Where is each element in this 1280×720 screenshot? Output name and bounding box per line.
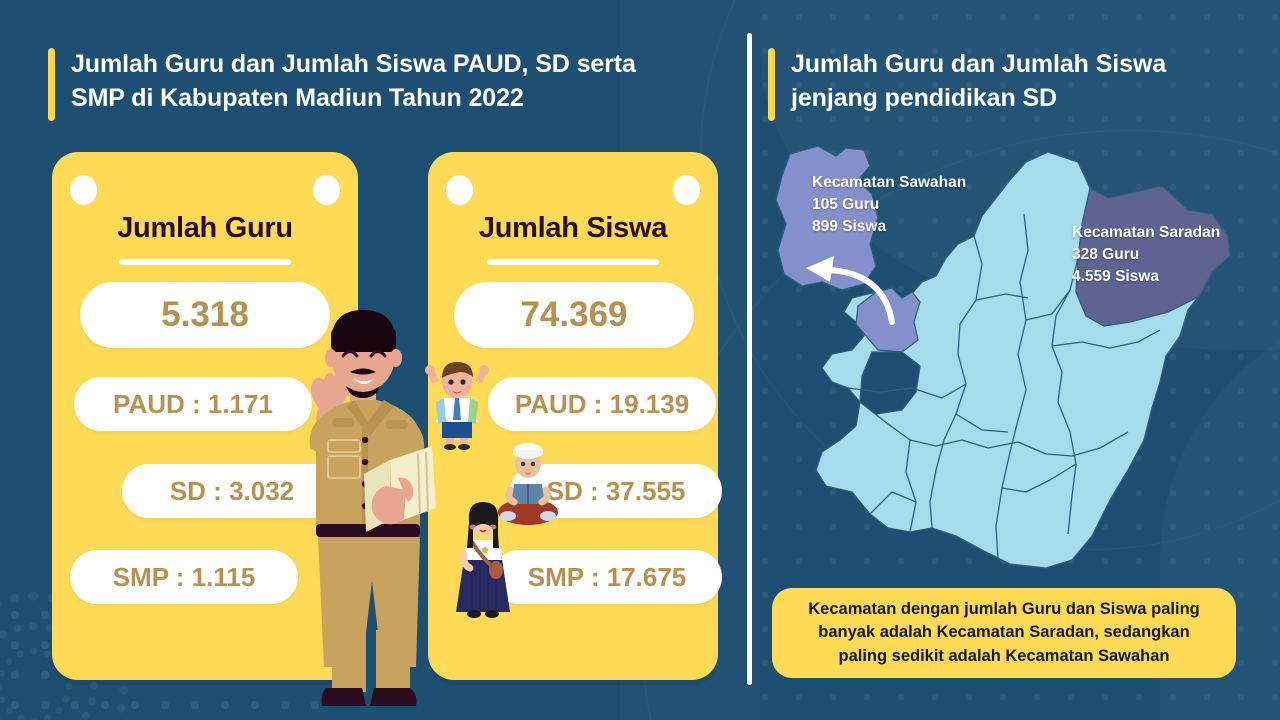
- card-guru-title: Jumlah Guru: [52, 212, 358, 245]
- left-panel-title-text: Jumlah Guru dan Jumlah Siswa PAUD, SD se…: [71, 48, 636, 115]
- card-jumlah-guru: Jumlah Guru 5.318 PAUD : 1.171 SD : 3.03…: [52, 152, 358, 680]
- card-siswa-title: Jumlah Siswa: [428, 212, 718, 245]
- stat-siswa-sd: SD : 37.555: [510, 464, 722, 518]
- title-accent-bar: [768, 48, 775, 121]
- map-label-saradan: Kecamatan Saradan 328 Guru 4.559 Siswa: [1072, 222, 1220, 288]
- punch-hole-left-icon: [70, 175, 97, 205]
- stat-siswa-paud: PAUD : 19.139: [488, 377, 716, 431]
- right-panel-title-text: Jumlah Guru dan Jumlah Siswa jenjang pen…: [791, 48, 1166, 115]
- map-caption: Kecamatan dengan jumlah Guru dan Siswa p…: [772, 588, 1236, 678]
- stat-guru-smp: SMP : 1.115: [70, 550, 298, 604]
- card-siswa-title-rule: [487, 259, 659, 265]
- right-panel-title: Jumlah Guru dan Jumlah Siswa jenjang pen…: [768, 48, 1238, 121]
- panel-divider: [747, 33, 752, 685]
- card-guru-title-rule: [119, 259, 291, 265]
- stat-guru-sd: SD : 3.032: [122, 464, 342, 518]
- infographic-canvas: Jumlah Guru dan Jumlah Siswa PAUD, SD se…: [0, 0, 1280, 720]
- arrow-to-sawahan-icon: [780, 230, 920, 330]
- card-jumlah-siswa: Jumlah Siswa 74.369 PAUD : 19.139 SD : 3…: [428, 152, 718, 680]
- punch-hole-right-icon: [313, 175, 340, 205]
- stat-guru-total: 5.318: [80, 282, 330, 348]
- left-panel-title: Jumlah Guru dan Jumlah Siswa PAUD, SD se…: [48, 48, 708, 121]
- title-accent-bar: [48, 48, 55, 121]
- stat-siswa-smp: SMP : 17.675: [492, 550, 722, 604]
- punch-hole-left-icon: [446, 175, 473, 205]
- stat-guru-paud: PAUD : 1.171: [74, 377, 312, 431]
- map-label-sawahan: Kecamatan Sawahan 105 Guru 899 Siswa: [812, 172, 966, 238]
- stat-siswa-total: 74.369: [454, 282, 694, 348]
- punch-hole-right-icon: [673, 175, 700, 205]
